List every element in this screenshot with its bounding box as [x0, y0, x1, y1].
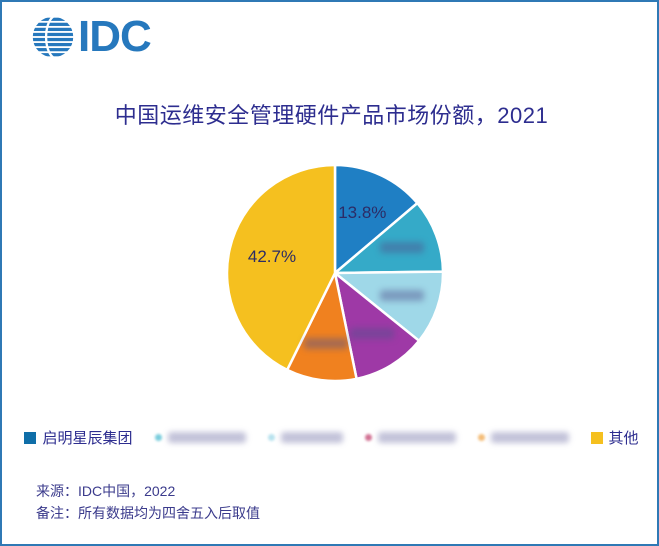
- legend-item[interactable]: [155, 432, 246, 443]
- legend-item[interactable]: [268, 432, 343, 443]
- pie-slice-label-redacted: [350, 328, 394, 339]
- legend-item-label: 启明星辰集团: [42, 427, 132, 448]
- idc-globe-icon: [30, 14, 76, 60]
- note-line: 备注：所有数据均为四舍五入后取值: [36, 502, 260, 524]
- legend-swatch-icon: [155, 434, 162, 441]
- pie-svg: [224, 162, 446, 384]
- legend-swatch-icon: [24, 432, 36, 444]
- legend-item-label: [281, 432, 343, 443]
- legend-item[interactable]: [478, 432, 569, 443]
- chart-title: 中国运维安全管理硬件产品市场份额，2021: [2, 98, 659, 130]
- pie-slice-label: 13.8%: [338, 203, 386, 223]
- pie-slice-label-redacted: [380, 242, 424, 253]
- legend-item[interactable]: [365, 432, 456, 443]
- legend-item-label: [378, 432, 456, 443]
- footer-notes: 来源：IDC中国，2022 备注：所有数据均为四舍五入后取值: [36, 480, 260, 524]
- legend-swatch-icon: [268, 434, 275, 441]
- legend-item[interactable]: 其他: [591, 427, 639, 448]
- legend-swatch-icon: [365, 434, 372, 441]
- pie-slice-label: 42.7%: [248, 247, 296, 267]
- pie-slice-label-redacted: [380, 290, 424, 301]
- idc-logo-text: IDC: [78, 15, 151, 59]
- legend-item-label: [168, 432, 246, 443]
- pie-slice-label-redacted: [304, 338, 348, 349]
- legend-swatch-icon: [591, 432, 603, 444]
- legend-item-label: [491, 432, 569, 443]
- chart-legend: 启明星辰集团 其他: [2, 427, 659, 448]
- legend-item-label: 其他: [609, 427, 639, 448]
- report-card: IDC 中国运维安全管理硬件产品市场份额，2021 13.8% 42.7% 启明…: [0, 0, 659, 546]
- legend-swatch-icon: [478, 434, 485, 441]
- idc-logo: IDC: [30, 14, 151, 60]
- legend-item[interactable]: 启明星辰集团: [24, 427, 132, 448]
- source-line: 来源：IDC中国，2022: [36, 480, 260, 502]
- pie-chart: 13.8% 42.7%: [2, 162, 659, 407]
